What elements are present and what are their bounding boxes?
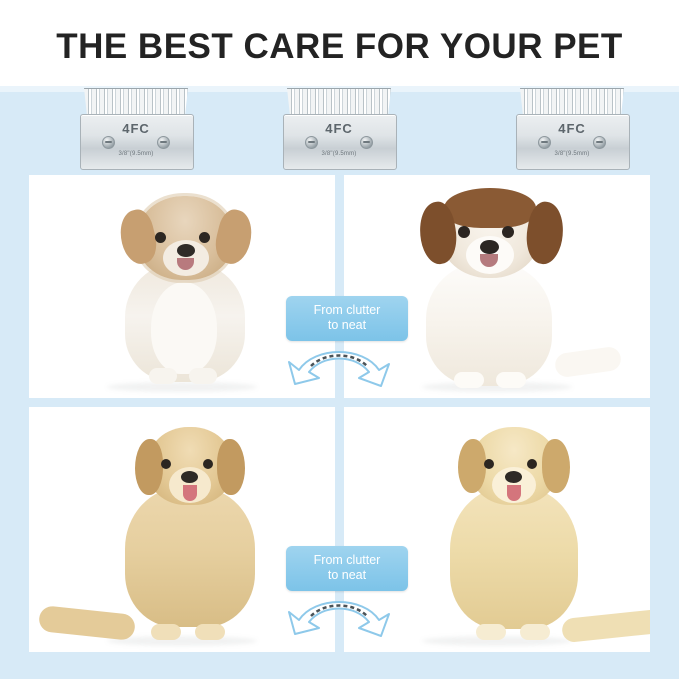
clipper-blade-right: 4FC 3/8"(9.5mm) — [516, 88, 628, 170]
callout-line-2: to neat — [294, 318, 400, 333]
blade-label: 4FC — [80, 121, 192, 136]
dog-illustration — [111, 196, 261, 386]
callout-badge-top: From clutter to neat — [286, 296, 408, 341]
blade-screw-icon — [102, 136, 115, 149]
callout-badge-bottom: From clutter to neat — [286, 546, 408, 591]
blade-screw-icon — [305, 136, 318, 149]
blade-size-label: 3/8"(9.5mm) — [283, 151, 395, 157]
clipper-blade-center: 4FC 3/8"(9.5mm) — [283, 88, 395, 170]
curved-arrow-bottom — [285, 590, 393, 640]
callout-line-1: From clutter — [294, 303, 400, 318]
blade-label: 4FC — [516, 121, 628, 136]
curved-arrow-top — [285, 340, 393, 390]
curved-arrow-icon — [285, 590, 393, 640]
blade-teeth-icon — [520, 88, 624, 117]
page-title: THE BEST CARE FOR YOUR PET — [0, 27, 679, 67]
dog-illustration — [422, 427, 612, 642]
callout-line-1: From clutter — [294, 553, 400, 568]
blade-screw-icon — [593, 136, 606, 149]
blade-teeth-icon — [287, 88, 391, 117]
grid-divider-horizontal — [29, 398, 650, 407]
blade-size-label: 3/8"(9.5mm) — [516, 151, 628, 157]
blade-screw-icon — [360, 136, 373, 149]
blade-screw-icon — [157, 136, 170, 149]
blade-screw-icon — [538, 136, 551, 149]
product-infographic: THE BEST CARE FOR YOUR PET 4FC 3/8"(9.5m… — [0, 0, 679, 679]
curved-arrow-icon — [285, 340, 393, 390]
dog-illustration — [85, 427, 285, 642]
blade-size-label: 3/8"(9.5mm) — [80, 151, 192, 157]
blade-teeth-icon — [84, 88, 188, 117]
callout-line-2: to neat — [294, 568, 400, 583]
dog-illustration — [404, 190, 579, 390]
clipper-blade-left: 4FC 3/8"(9.5mm) — [80, 88, 192, 170]
blade-label: 4FC — [283, 121, 395, 136]
